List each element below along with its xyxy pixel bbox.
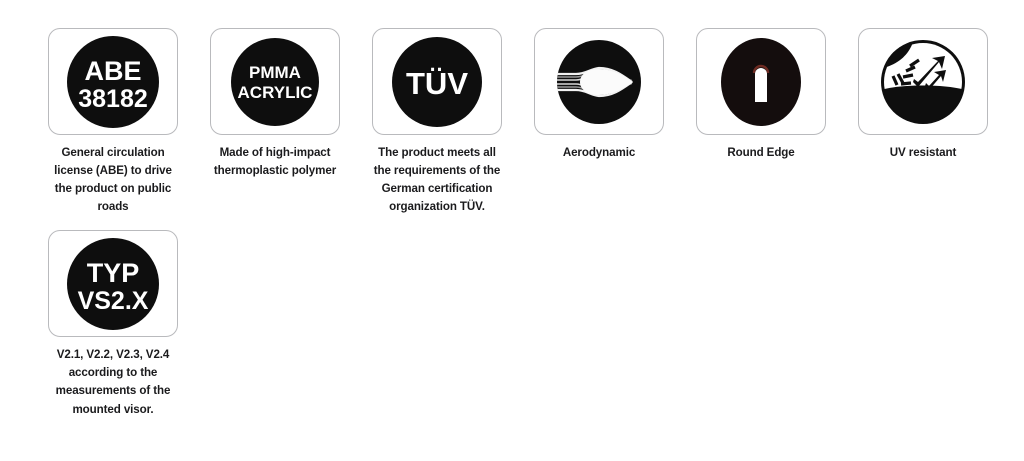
feature-item-round-edge: Round Edge (696, 28, 826, 216)
feature-caption-pmma: Made of high-impact thermoplastic polyme… (209, 144, 341, 180)
feature-item-pmma: PMMA ACRYLIC Made of high-impact thermop… (210, 28, 340, 216)
typ-badge-line-2: VS2.X (78, 287, 149, 315)
abe-badge-line-2: 38182 (78, 85, 148, 113)
icon-card-aerodynamic (534, 28, 664, 135)
uv-ground-shape (881, 85, 965, 126)
typ-vs2x-badge-icon: TYP VS2.X (66, 237, 160, 331)
abe-badge-line-1: ABE (84, 56, 141, 86)
feature-caption-aerodynamic: Aerodynamic (533, 144, 665, 162)
icon-card-abe: ABE 38182 (48, 28, 178, 135)
typ-badge-line-1: TYP (87, 258, 140, 288)
aerodynamic-airflow-icon (556, 39, 642, 125)
icon-card-tuv: TÜV (372, 28, 502, 135)
feature-grid: ABE 38182 General circulation license (A… (0, 0, 1024, 433)
tuv-badge-icon: TÜV (391, 36, 483, 128)
round-edge-slot-shape (755, 68, 767, 102)
abe-badge-icon: ABE 38182 (66, 35, 160, 129)
pmma-acrylic-badge-icon: PMMA ACRYLIC (230, 37, 320, 127)
feature-caption-typ-vs2x: V2.1, V2.2, V2.3, V2.4 according to the … (47, 346, 179, 418)
round-edge-icon (720, 37, 802, 127)
feature-item-abe: ABE 38182 General circulation license (A… (48, 28, 178, 216)
icon-card-round-edge (696, 28, 826, 135)
feature-item-uv-resistant: UV resistant (858, 28, 988, 216)
feature-caption-uv-resistant: UV resistant (857, 144, 989, 162)
tuv-badge-line-1: TÜV (406, 66, 468, 101)
feature-item-tuv: TÜV The product meets all the requiremen… (372, 28, 502, 216)
feature-caption-abe: General circulation license (ABE) to dri… (47, 144, 179, 216)
feature-item-aerodynamic: Aerodynamic (534, 28, 664, 216)
feature-caption-tuv: The product meets all the requirements o… (371, 144, 503, 216)
icon-card-uv-resistant (858, 28, 988, 135)
feature-item-typ-vs2x: TYP VS2.X V2.1, V2.2, V2.3, V2.4 accordi… (48, 230, 178, 418)
uv-resistant-sun-icon (879, 38, 967, 126)
icon-card-pmma: PMMA ACRYLIC (210, 28, 340, 135)
feature-caption-round-edge: Round Edge (695, 144, 827, 162)
icon-card-typ-vs2x: TYP VS2.X (48, 230, 178, 337)
pmma-badge-line-2: ACRYLIC (238, 83, 313, 102)
pmma-badge-line-1: PMMA (249, 63, 301, 82)
